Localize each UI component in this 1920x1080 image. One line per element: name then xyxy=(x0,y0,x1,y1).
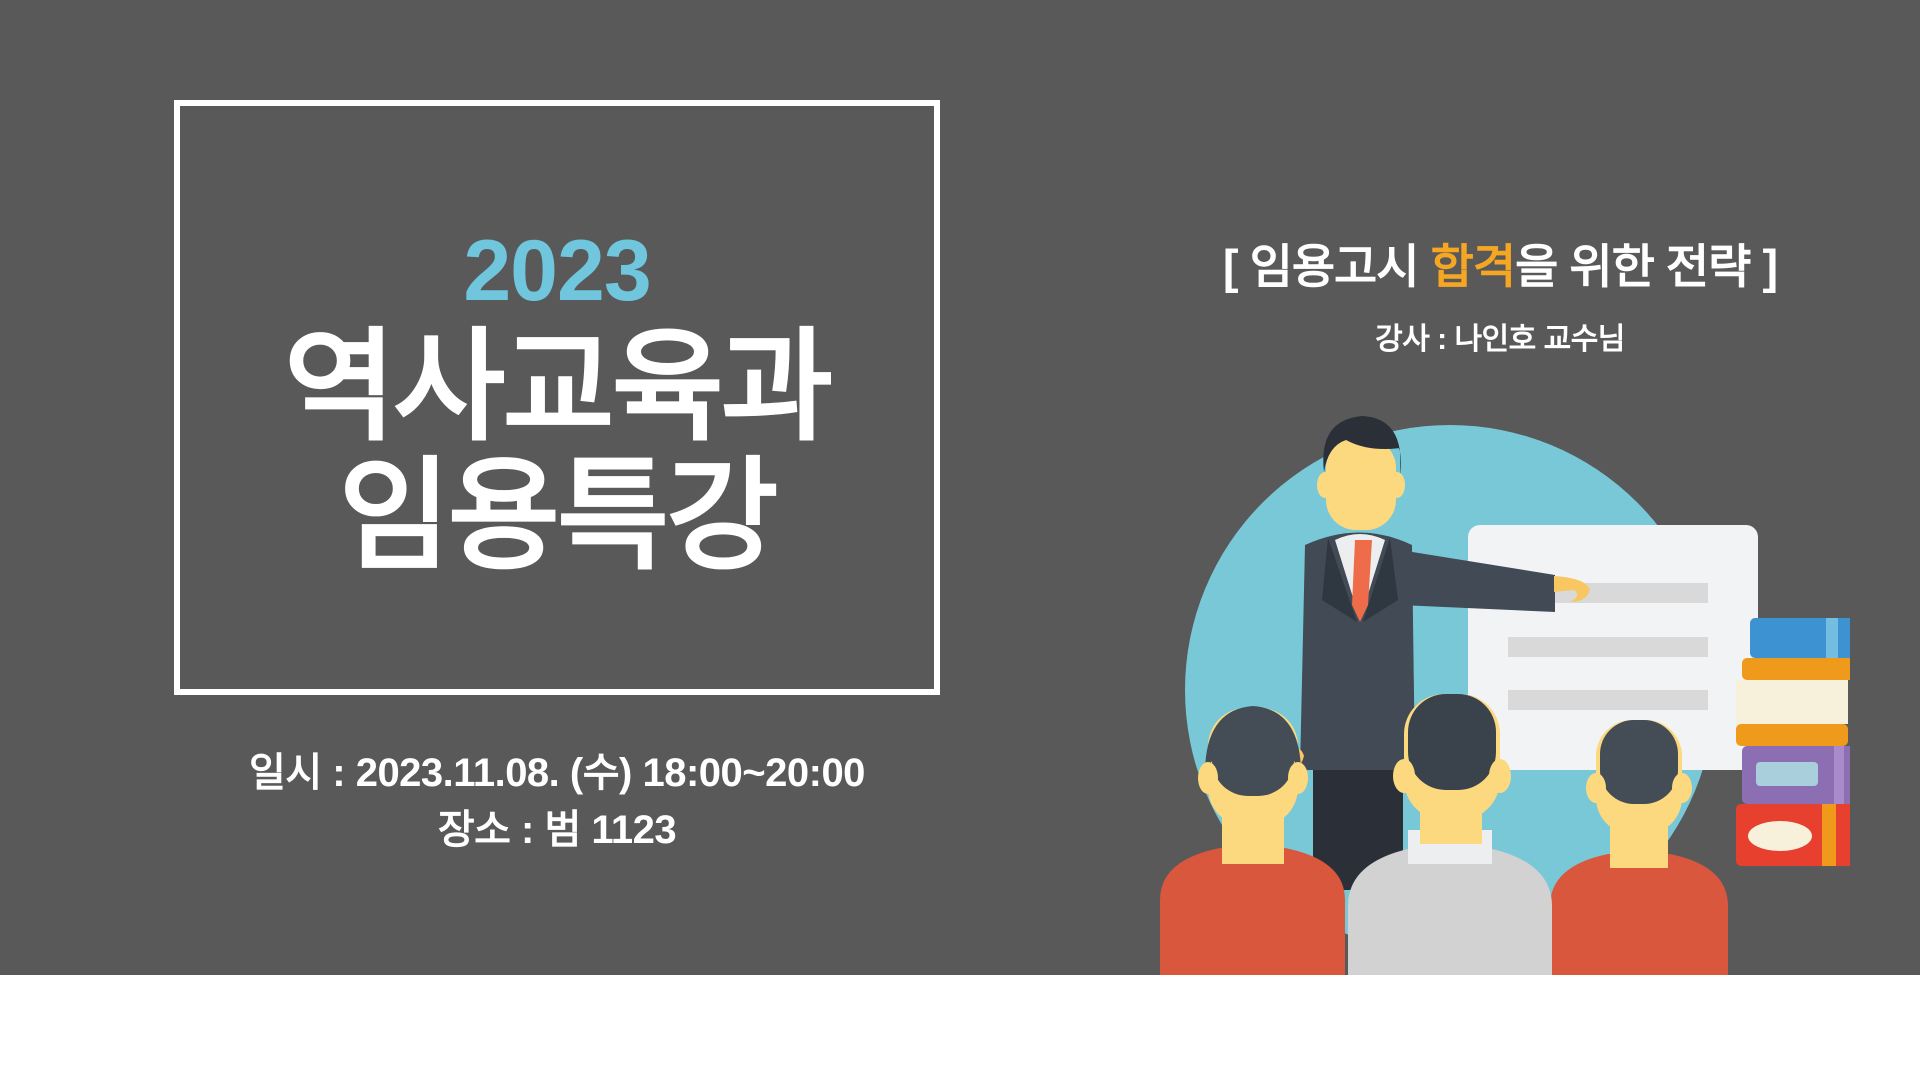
headline-frame: 2023 역사교육과 임용특강 xyxy=(174,100,940,695)
right-column: [ 임용고시 합격을 위한 전략 ] 강사 : 나인호 교수님 xyxy=(1120,240,1880,358)
audience-right-ear-right xyxy=(1672,773,1692,803)
event-details: 일시 : 2023.11.08. (수) 18:00~20:00 장소 : 범 … xyxy=(174,745,940,859)
tagline-highlight-text: 합격 xyxy=(1431,240,1515,293)
tagline: [ 임용고시 합격을 위한 전략 ] xyxy=(1120,240,1880,294)
audience-right-hair-mass xyxy=(1600,720,1678,804)
presenter-face xyxy=(1326,438,1396,530)
audience-center-shoulders xyxy=(1348,848,1552,975)
tagline-close-bracket: ] xyxy=(1762,240,1777,293)
event-location: 장소 : 범 1123 xyxy=(174,802,940,859)
audience-right-shoulders xyxy=(1550,854,1728,975)
book-red-spine-strip xyxy=(1822,804,1836,866)
tagline-open-bracket: [ xyxy=(1223,240,1238,293)
audience-left-hair-mass xyxy=(1212,708,1294,796)
audience-left-shoulders xyxy=(1160,848,1345,975)
board-line-3 xyxy=(1508,690,1708,710)
book-purple-spine-strip xyxy=(1834,746,1844,804)
lecture-illustration xyxy=(1150,390,1850,975)
audience-left-ear-left xyxy=(1198,762,1218,794)
book-cream xyxy=(1736,680,1848,724)
book-stack xyxy=(1736,618,1850,866)
event-datetime: 일시 : 2023.11.08. (수) 18:00~20:00 xyxy=(174,745,940,802)
audience-right-ear-left xyxy=(1586,773,1606,803)
book-orange-upper xyxy=(1742,658,1850,680)
presenter-ear-right xyxy=(1389,472,1405,498)
book-blue-spine-strip xyxy=(1826,618,1838,658)
year-label: 2023 xyxy=(463,231,650,313)
tagline-before-text: 임용고시 xyxy=(1250,240,1419,293)
speaker-line: 강사 : 나인호 교수님 xyxy=(1120,314,1880,358)
audience-left-ear-right xyxy=(1288,762,1308,794)
title-line-1: 역사교육과 xyxy=(284,323,830,452)
poster-canvas: 2023 역사교육과 임용특강 일시 : 2023.11.08. (수) 18:… xyxy=(0,0,1920,1080)
audience-center-hair-mass xyxy=(1408,694,1496,790)
book-purple-label xyxy=(1756,762,1818,786)
book-red-label xyxy=(1748,821,1812,851)
headline-frame-content: 2023 역사교육과 임용특강 xyxy=(180,106,934,689)
title-line-2: 임용특강 xyxy=(339,452,776,581)
presenter-ear-left xyxy=(1317,472,1333,498)
audience-center-ear-left xyxy=(1393,759,1415,793)
audience-center-ear-right xyxy=(1489,759,1511,793)
book-orange-lower xyxy=(1736,724,1848,746)
tagline-after-text: 을 위한 전략 xyxy=(1515,240,1750,293)
board-line-2 xyxy=(1508,637,1708,657)
